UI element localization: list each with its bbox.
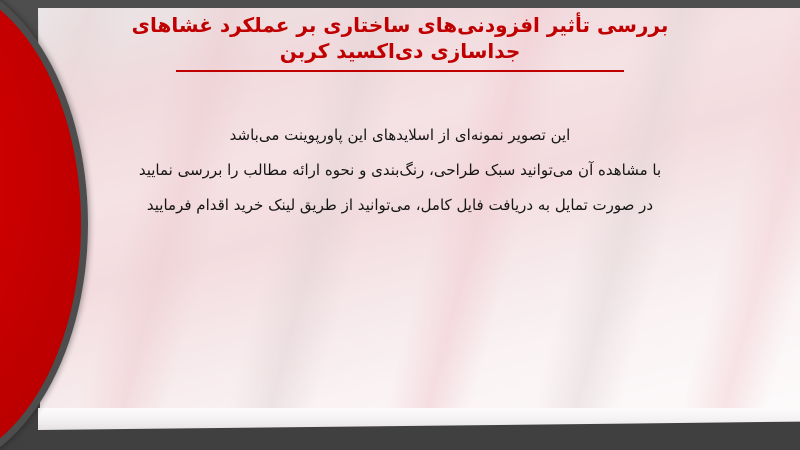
presentation-slide: بررسی تأثیر افزودنی‌های ساختاری بر عملکر… <box>0 0 800 450</box>
title-divider-rule <box>176 70 624 72</box>
slide-title: بررسی تأثیر افزودنی‌های ساختاری بر عملکر… <box>110 12 690 72</box>
slide-body-text: این تصویر نمونه‌ای از اسلایدهای این پاور… <box>70 118 730 223</box>
slide-title-line-1: بررسی تأثیر افزودنی‌های ساختاری بر عملکر… <box>110 12 690 38</box>
body-line-3: در صورت تمایل به دریافت فایل کامل، می‌تو… <box>70 188 730 223</box>
body-line-2: با مشاهده آن می‌توانید سبک طراحی، رنگ‌بن… <box>70 153 730 188</box>
slide-title-line-2: جداسازی دی‌اکسید کربن <box>110 38 690 64</box>
body-line-1: این تصویر نمونه‌ای از اسلایدهای این پاور… <box>70 118 730 153</box>
